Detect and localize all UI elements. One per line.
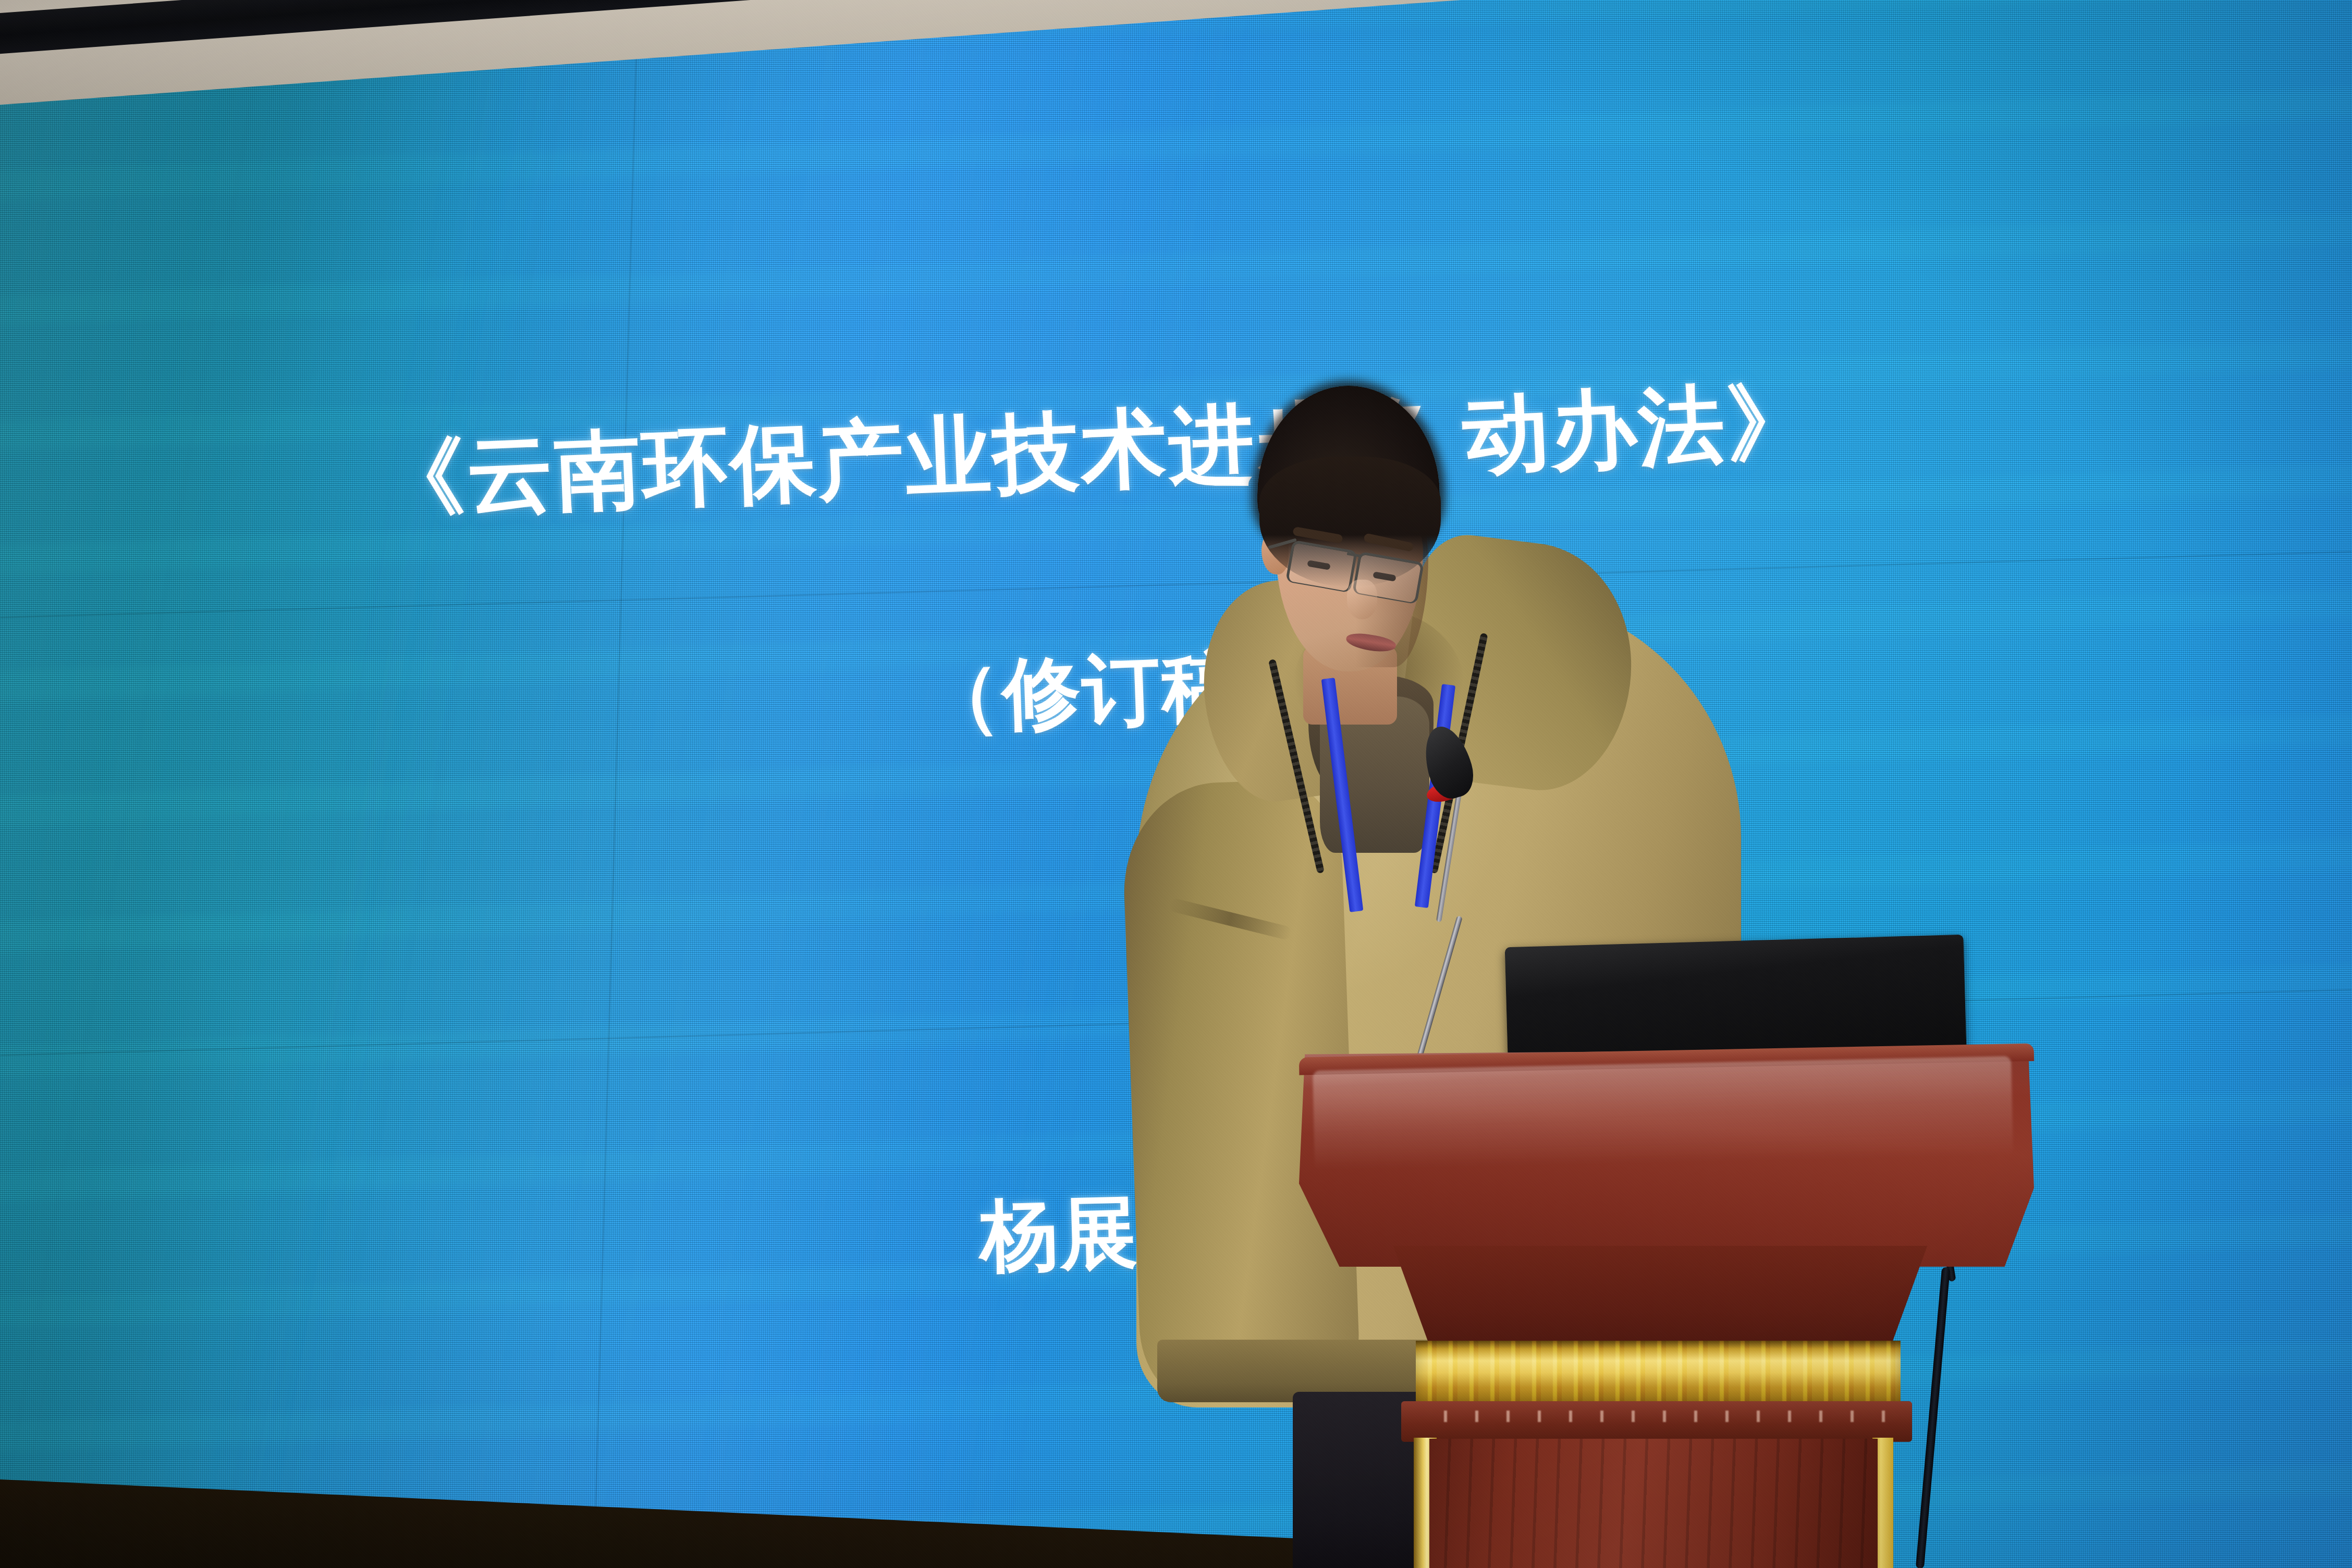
nose bbox=[1347, 580, 1377, 619]
lectern-wood-grain bbox=[1429, 1439, 1878, 1568]
lectern-gloss-highlight bbox=[1313, 1056, 2013, 1170]
lectern-neck bbox=[1376, 1246, 1944, 1355]
lectern-brass-reflections bbox=[1416, 1341, 1901, 1407]
lectern-cap-studs bbox=[1416, 1411, 1895, 1422]
presentation-photo: 《云南环保产业技术进步奖 动办法》 （修订稿） 杨展雄 bbox=[0, 0, 2352, 1568]
